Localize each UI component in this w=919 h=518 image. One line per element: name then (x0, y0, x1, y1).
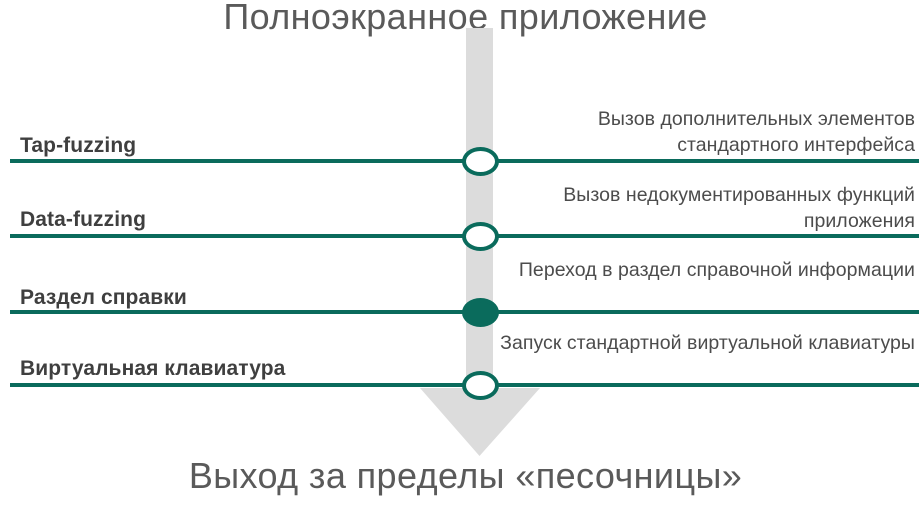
stage-label-virtual-keyboard: Виртуальная клавиатура (20, 357, 285, 381)
stage-node-virtual-keyboard[interactable] (462, 371, 499, 400)
diagram-canvas: Полноэкранное приложение Tap-fuzzing Выз… (0, 0, 919, 518)
stage-description-tap-fuzzing: Вызов дополнительных элементов стандартн… (495, 106, 915, 158)
stage-node-data-fuzzing[interactable] (462, 222, 499, 251)
stage-line-left-2 (10, 234, 473, 238)
stage-line-right-3 (487, 310, 919, 314)
stage-node-help-section[interactable] (462, 298, 499, 327)
stage-line-left-3 (10, 310, 473, 314)
stage-line-right-1 (487, 159, 919, 163)
page-title-bottom: Выход за пределы «песочницы» (0, 455, 919, 497)
stage-label-tap-fuzzing: Tap-fuzzing (20, 134, 136, 158)
stage-line-right-4 (487, 383, 919, 387)
stage-node-tap-fuzzing[interactable] (462, 147, 499, 176)
stage-line-left-4 (10, 383, 473, 387)
stage-line-left-1 (10, 159, 473, 163)
stage-description-help-section: Переход в раздел справочной информации (495, 257, 915, 283)
stage-label-data-fuzzing: Data-fuzzing (20, 208, 146, 232)
stage-description-virtual-keyboard: Запуск стандартной виртуальной клавиатур… (495, 330, 915, 356)
stage-line-right-2 (487, 234, 919, 238)
stage-label-help-section: Раздел справки (20, 286, 187, 310)
stage-description-data-fuzzing: Вызов недокументированных функций прилож… (495, 182, 915, 234)
